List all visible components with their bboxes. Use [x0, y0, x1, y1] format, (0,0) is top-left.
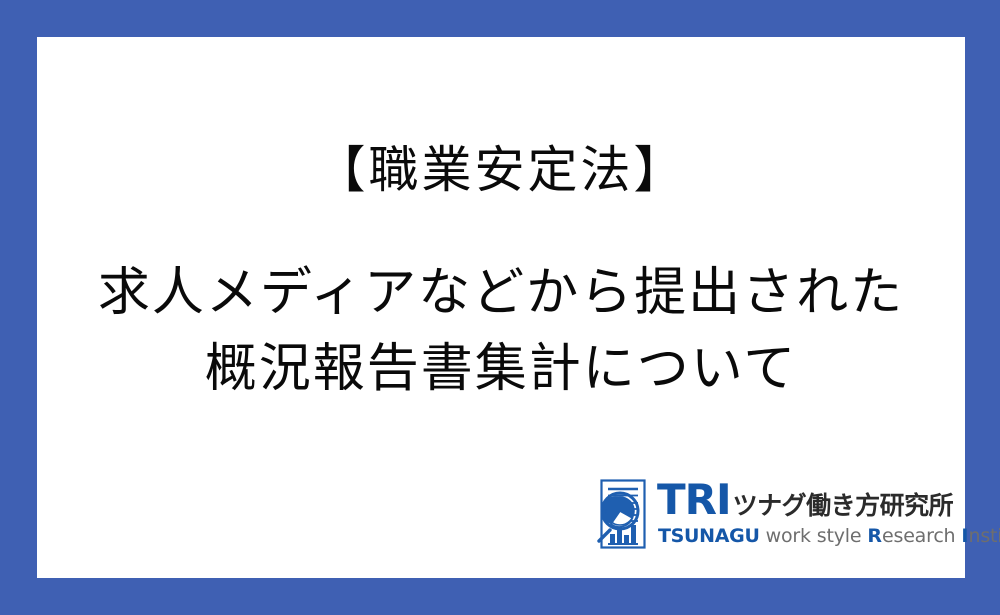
logo-wordmark: TRI ツナグ働き方研究所 TSUNAGU work style R esear… — [657, 478, 945, 550]
tri-logo: TRI ツナグ働き方研究所 TSUNAGU work style R esear… — [597, 478, 945, 558]
tagline-institute-rest: nstitute — [968, 524, 1000, 548]
logo-tagline-row: TSUNAGU work style R esearch I nstitute — [658, 524, 1000, 548]
tagline-style: style — [817, 524, 862, 548]
slide-canvas: 【職業安定法】 求人メディアなどから提出された 概況報告書集計について — [0, 0, 1000, 615]
logo-abbreviation: TRI — [657, 478, 731, 522]
tagline-brand: TSUNAGU — [658, 524, 760, 548]
tagline-institute-initial: I — [961, 524, 968, 548]
subtitle-block: 求人メディアなどから提出された 概況報告書集計について — [37, 255, 965, 407]
logo-japanese-name: ツナグ働き方研究所 — [733, 484, 954, 528]
document-pie-chart-magnifier-icon — [597, 478, 649, 550]
tagline-research-initial: R — [867, 524, 882, 548]
subtitle-line-1: 求人メディアなどから提出された — [37, 255, 965, 331]
subtitle-line-2: 概況報告書集計について — [37, 331, 965, 407]
logo-primary-row: TRI ツナグ働き方研究所 — [657, 478, 953, 522]
tagline-work: work — [766, 524, 811, 548]
white-content-card: 【職業安定法】 求人メディアなどから提出された 概況報告書集計について — [37, 37, 965, 578]
page-title: 【職業安定法】 — [37, 140, 965, 200]
tagline-research-rest: esearch — [882, 524, 955, 548]
